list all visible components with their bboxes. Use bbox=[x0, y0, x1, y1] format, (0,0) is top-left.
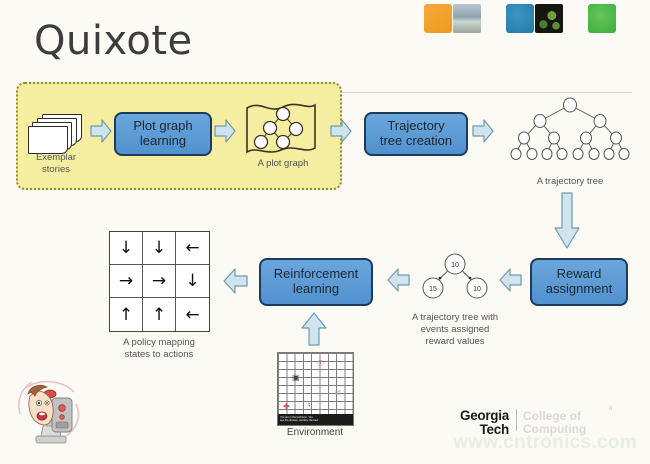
unit-line1: College of bbox=[523, 410, 586, 423]
environment-marker-health: ✚ bbox=[283, 403, 290, 411]
arrow-down-icon bbox=[553, 192, 581, 250]
caption-environment: Environment bbox=[272, 427, 358, 440]
orange-swatch-icon bbox=[424, 4, 452, 33]
arrow-left-icon bbox=[222, 267, 248, 295]
arrow-left-icon bbox=[498, 267, 522, 293]
policy-cell: ↓ bbox=[143, 232, 176, 265]
policy-cell: ← bbox=[176, 298, 209, 331]
arrow-left-icon bbox=[386, 267, 410, 293]
slide-title: Quixote bbox=[34, 18, 193, 64]
arrow-right-icon bbox=[90, 118, 112, 144]
policy-cell: ↓ bbox=[110, 232, 143, 265]
environment-status-bar: You are in the bedroom. You see the dres… bbox=[278, 414, 353, 425]
environment-marker-object: ▣ bbox=[292, 374, 300, 382]
caption-reward-tree: A trajectory tree with events assigned r… bbox=[393, 312, 517, 348]
stage-box-reward-assignment[interactable]: Rewardassignment bbox=[530, 258, 628, 306]
environment-status-text: You are in the bedroom. You see the dres… bbox=[278, 414, 353, 424]
trajectory-tree-illustration bbox=[508, 96, 632, 162]
policy-cell: ← bbox=[176, 232, 209, 265]
arrow-right-icon bbox=[472, 118, 494, 144]
photo-cityscape-thumbnail bbox=[453, 4, 481, 33]
exemplar-stories-icon bbox=[28, 114, 84, 148]
stage-box-reinforcement-learning[interactable]: Reinforcementlearning bbox=[259, 258, 373, 306]
reward-tree-node-root: 10 bbox=[446, 257, 464, 273]
caption-plot-graph: A plot graph bbox=[241, 158, 325, 170]
stage-box-trajectory-tree-creation[interactable]: Trajectorytree creation bbox=[364, 112, 468, 156]
environment-marker-agent: ♮ bbox=[308, 402, 311, 409]
caption-policy: A policy mapping states to actions bbox=[108, 337, 210, 361]
watermark-text: www.cntronics.com bbox=[440, 432, 650, 454]
stage-box-label: Plot graphlearning bbox=[133, 119, 192, 149]
environment-marker-target: ☉ bbox=[317, 360, 324, 368]
arrow-right-icon bbox=[214, 118, 236, 144]
mascot-illustration bbox=[14, 374, 86, 454]
caption-trajectory-tree: A trajectory tree bbox=[520, 176, 620, 188]
environment-marker-item: ▤ bbox=[335, 390, 341, 396]
brand-name-line1: Georgia bbox=[460, 409, 509, 423]
arrow-right-icon bbox=[330, 118, 352, 144]
stage-box-label: Trajectorytree creation bbox=[380, 119, 452, 149]
logo-divider bbox=[516, 409, 517, 431]
reward-tree-node-right: 10 bbox=[468, 281, 486, 297]
environment-gridworld: ☉ ▣ ▤ ♮ ✚ You are in the bedroom. You se… bbox=[277, 352, 354, 426]
policy-cell: → bbox=[110, 265, 143, 298]
stage-box-label: Rewardassignment bbox=[546, 267, 612, 297]
stage-box-plot-graph-learning[interactable]: Plot graphlearning bbox=[114, 112, 212, 156]
arrow-up-icon bbox=[300, 312, 328, 346]
header-decoration-strip bbox=[424, 4, 634, 34]
reward-tree-node-left: 15 bbox=[424, 281, 442, 297]
slide-page-number: 8 bbox=[609, 406, 612, 412]
policy-grid: ↓ ↓ ← → → ↓ ↑ ↑ ← bbox=[109, 231, 210, 332]
stage-box-label: Reinforcementlearning bbox=[274, 267, 359, 297]
plot-graph-illustration bbox=[243, 100, 319, 156]
green-swatch-icon bbox=[588, 4, 616, 33]
policy-cell: → bbox=[143, 265, 176, 298]
blue-swatch-icon bbox=[506, 4, 534, 33]
photo-foliage-thumbnail bbox=[535, 4, 563, 33]
policy-cell: ↓ bbox=[176, 265, 209, 298]
presentation-slide: Quixote Exemplar stories Plot graphlearn… bbox=[0, 0, 650, 464]
policy-cell: ↑ bbox=[110, 298, 143, 331]
reward-tree-illustration: 10 15 10 bbox=[418, 252, 492, 302]
caption-exemplar-stories: Exemplar stories bbox=[16, 152, 96, 176]
policy-cell: ↑ bbox=[143, 298, 176, 331]
